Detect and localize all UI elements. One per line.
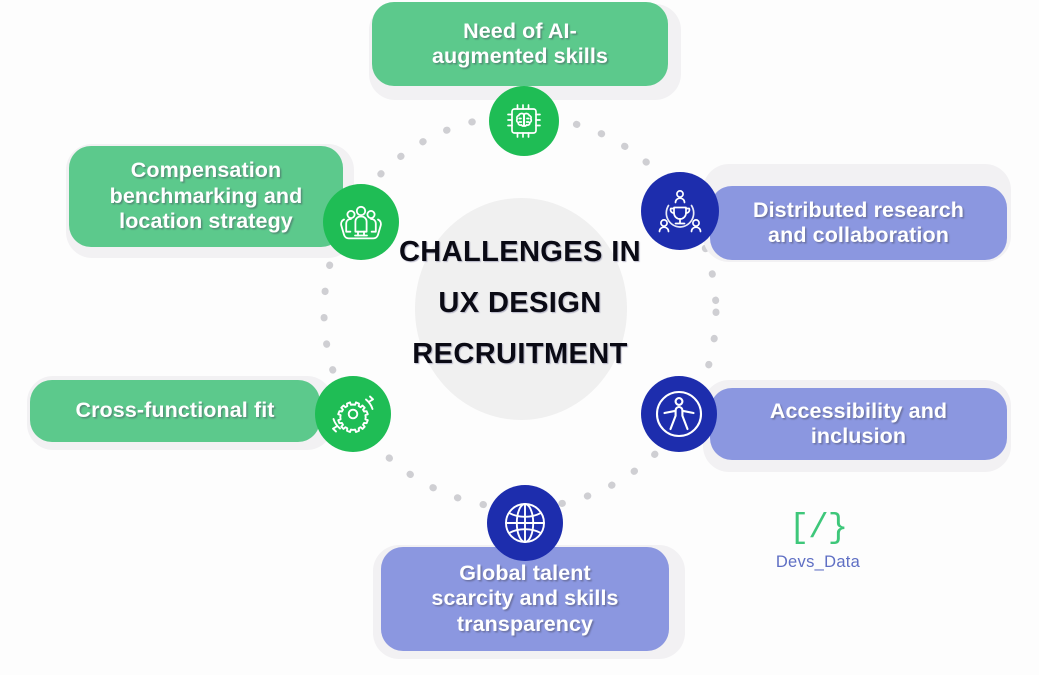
hands-holding-people-icon[interactable] <box>323 184 399 260</box>
node-label-line-1: Distributed research <box>753 198 964 223</box>
page-title-line-1: CHALLENGES IN <box>360 238 680 267</box>
node-label-pill[interactable]: Cross-functional fit <box>30 380 320 442</box>
node-label-line-1: Compensation <box>131 158 282 183</box>
globe-icon[interactable] <box>487 485 563 561</box>
node-label-line-1: Global talent <box>459 561 591 586</box>
page-title: CHALLENGES IN UX DESIGN RECRUITMENT <box>360 238 680 369</box>
node-label-line-3: location strategy <box>119 209 293 234</box>
infographic-canvas: CHALLENGES IN UX DESIGN RECRUITMENT Need… <box>0 0 1039 675</box>
brand-name: Devs_Data <box>762 553 874 572</box>
node-label-line-1: Accessibility and <box>770 399 947 424</box>
gear-refresh-icon[interactable] <box>315 376 391 452</box>
node-label-line-2: benchmarking and <box>110 184 303 209</box>
node-label-line-1: Need of AI- <box>463 19 577 44</box>
page-title-line-3: RECRUITMENT <box>360 340 680 369</box>
node-label-line-2: inclusion <box>811 424 906 449</box>
node-label-line-1: Cross-functional fit <box>75 398 274 423</box>
node-label-line-2: augmented skills <box>432 44 608 69</box>
trophy-team-icon[interactable] <box>641 172 719 250</box>
brain-chip-icon[interactable] <box>489 86 559 156</box>
node-label-line-2: scarcity and skills <box>431 586 618 611</box>
node-label-pill[interactable]: Compensation benchmarking and location s… <box>69 146 343 247</box>
brand-logo: [/} Devs_Data <box>762 512 874 572</box>
page-title-line-2: UX DESIGN <box>360 289 680 318</box>
node-label-pill[interactable]: Distributed research and collaboration <box>710 186 1007 260</box>
node-label-pill[interactable]: Global talent scarcity and skills transp… <box>381 547 669 651</box>
accessibility-person-icon[interactable] <box>641 376 717 452</box>
node-label-pill[interactable]: Need of AI- augmented skills <box>372 2 668 86</box>
devs-data-mark-icon: [/} <box>762 512 874 546</box>
node-label-line-2: and collaboration <box>768 223 949 248</box>
node-label-pill[interactable]: Accessibility and inclusion <box>710 388 1007 460</box>
node-label-line-3: transparency <box>457 612 593 637</box>
